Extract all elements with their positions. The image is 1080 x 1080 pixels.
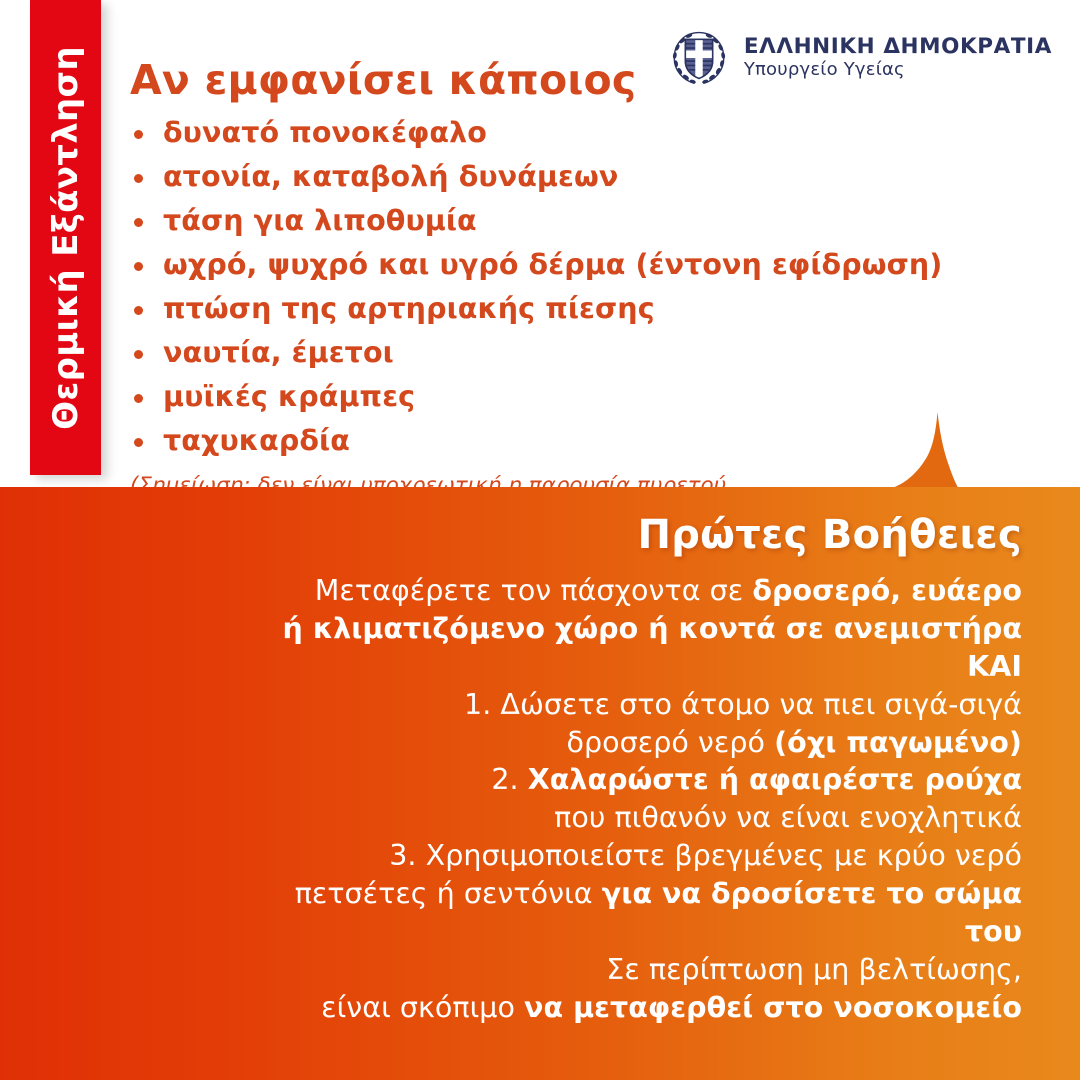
condition-side-tab: Θερμική Εξάντληση (30, 0, 101, 475)
first-aid-step1-line2: δροσερό νερό (όχι παγωμένο) (232, 724, 1022, 762)
list-item: πτώση της αρτηριακής πίεσης (130, 295, 1030, 324)
first-aid-closing-line2-regular: είναι σκόπιμο (321, 991, 524, 1024)
first-aid-step-3: 3. Χρησιμοποιείστε βρεγμένες με κρύο νερ… (232, 837, 1022, 951)
first-aid-content: Πρώτες Βοήθειες Μεταφέρετε τον πάσχοντα … (232, 512, 1022, 1027)
list-item: τάση για λιποθυμία (130, 207, 1030, 236)
list-item-label: ναυτία, έμετοι (163, 336, 394, 369)
first-aid-step3-line2-regular: πετσέτες ή σεντόνια (295, 877, 602, 910)
list-item-label: δυνατό πονοκέφαλο (163, 116, 487, 149)
first-aid-closing-line2-bold: να μεταφερθεί στο νοσοκομείο (524, 991, 1022, 1024)
bullet-icon (134, 438, 143, 447)
first-aid-step3-line1: 3. Χρησιμοποιείστε βρεγμένες με κρύο νερ… (232, 837, 1022, 875)
list-item-label: μυϊκές κράμπες (163, 380, 415, 413)
list-item: μυϊκές κράμπες (130, 383, 1030, 412)
list-item: ταχυκαρδία (130, 427, 1030, 456)
symptoms-section: Θερμική Εξάντληση (0, 0, 1080, 487)
first-aid-intro-line1: Μεταφέρετε τον πάσχοντα σε δροσερό, ευάε… (232, 572, 1022, 610)
first-aid-step2-line1: 2. Χαλαρώστε ή αφαιρέστε ρούχα (232, 761, 1022, 799)
list-item-label: πτώση της αρτηριακής πίεσης (163, 292, 655, 325)
first-aid-intro-line1-bold: δροσερό, ευάερο (752, 574, 1022, 607)
first-aid-closing: Σε περίπτωση μη βελτίωσης, είναι σκόπιμο… (232, 951, 1022, 1027)
first-aid-intro: Μεταφέρετε τον πάσχοντα σε δροσερό, ευάε… (232, 572, 1022, 686)
first-aid-step2-number: 2. (491, 763, 527, 796)
ministry-logo-line1: ΕΛΛΗΝΙΚΗ ΔΗΜΟΚΡΑΤΙΑ (744, 36, 1052, 59)
list-item: ναυτία, έμετοι (130, 339, 1030, 368)
list-item-label: ταχυκαρδία (163, 424, 350, 457)
poster-root: Θερμική Εξάντληση (0, 0, 1080, 1080)
first-aid-step3-line2-bold: για να δροσίσετε το σώμα του (602, 877, 1022, 948)
list-item: δυνατό πονοκέφαλο (130, 119, 1030, 148)
symptom-list: δυνατό πονοκέφαλο ατονία, καταβολή δυνάμ… (130, 119, 1030, 456)
bullet-icon (134, 130, 143, 139)
first-aid-step2-line2: που πιθανόν να είναι ενοχλητικά (232, 799, 1022, 837)
symptoms-heading: Αν εμφανίσει κάποιος (130, 58, 1030, 103)
bullet-icon (134, 262, 143, 271)
bullet-icon (134, 350, 143, 359)
first-aid-step-2: 2. Χαλαρώστε ή αφαιρέστε ρούχα που πιθαν… (232, 761, 1022, 837)
first-aid-closing-line2: είναι σκόπιμο να μεταφερθεί στο νοσοκομε… (232, 989, 1022, 1027)
first-aid-closing-line1: Σε περίπτωση μη βελτίωσης, (232, 951, 1022, 989)
first-aid-section: Πρώτες Βοήθειες Μεταφέρετε τον πάσχοντα … (0, 487, 1080, 1080)
bullet-icon (134, 218, 143, 227)
first-aid-step1-line2-regular: δροσερό νερό (567, 726, 775, 759)
bullet-icon (134, 306, 143, 315)
bullet-icon (134, 174, 143, 183)
list-item-label: τάση για λιποθυμία (163, 204, 477, 237)
list-item: ωχρό, ψυχρό και υγρό δέρμα (έντονη εφίδρ… (130, 251, 1030, 280)
list-item-label: ωχρό, ψυχρό και υγρό δέρμα (έντονη εφίδρ… (163, 248, 942, 281)
first-aid-intro-line1-regular: Μεταφέρετε τον πάσχοντα σε (315, 574, 753, 607)
list-item-label: ατονία, καταβολή δυνάμεων (163, 160, 618, 193)
first-aid-step-1: 1. Δώσετε στο άτομο να πιει σιγά-σιγά δρ… (232, 686, 1022, 762)
first-aid-intro-line2: ή κλιματιζόμενο χώρο ή κοντά σε ανεμιστή… (232, 610, 1022, 648)
bullet-icon (134, 394, 143, 403)
first-aid-step2-bold: Χαλαρώστε ή αφαιρέστε ρούχα (528, 763, 1022, 796)
first-aid-step3-line2: πετσέτες ή σεντόνια για να δροσίσετε το … (232, 875, 1022, 951)
first-aid-step1-line2-bold: (όχι παγωμένο) (774, 726, 1022, 759)
list-item: ατονία, καταβολή δυνάμεων (130, 163, 1030, 192)
symptoms-content: Αν εμφανίσει κάποιος δυνατό πονοκέφαλο α… (130, 58, 1030, 530)
condition-side-tab-label: Θερμική Εξάντληση (49, 46, 83, 430)
first-aid-step1-line1: 1. Δώσετε στο άτομο να πιει σιγά-σιγά (232, 686, 1022, 724)
first-aid-heading: Πρώτες Βοήθειες (232, 512, 1022, 558)
first-aid-and-word: ΚΑΙ (232, 648, 1022, 686)
